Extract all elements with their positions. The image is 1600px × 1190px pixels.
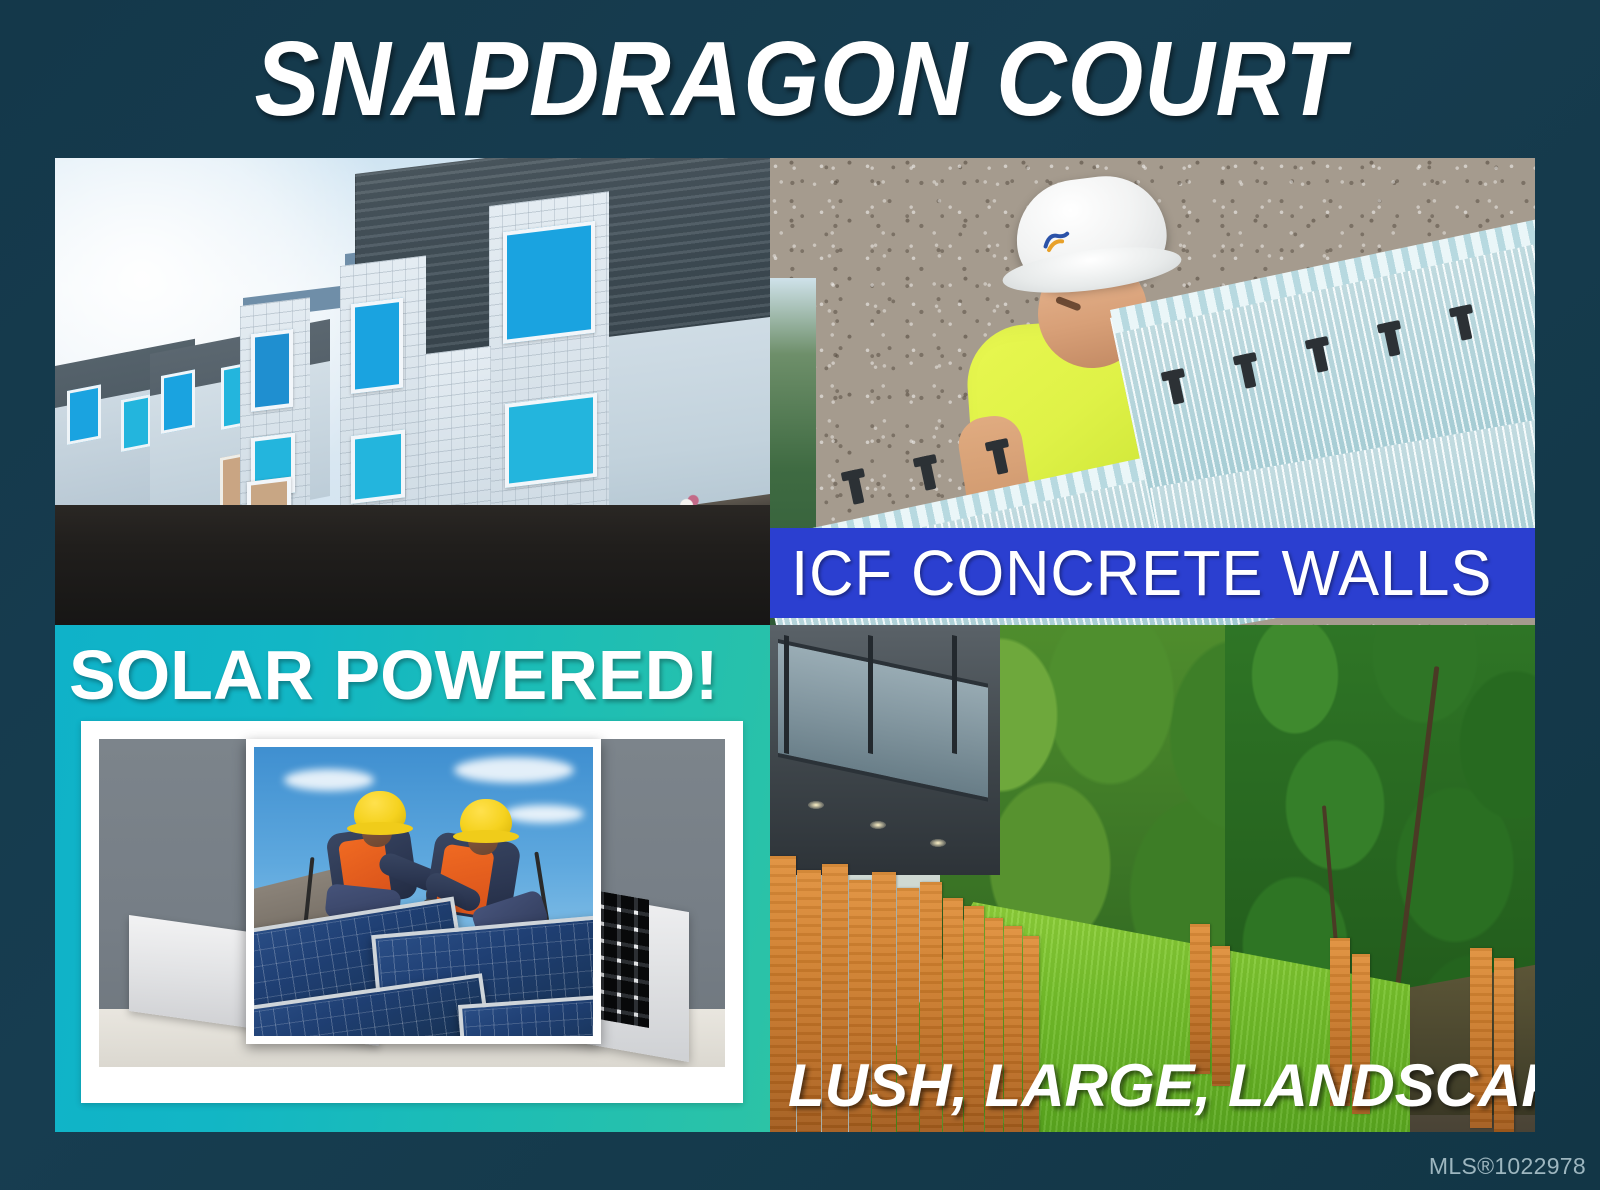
mls-watermark: MLS®1022978 xyxy=(1429,1153,1586,1180)
window xyxy=(121,394,151,452)
icf-caption-banner: ICF CONCRETE WALLS xyxy=(770,528,1535,618)
yellow-hard-hat-icon xyxy=(354,791,406,831)
window xyxy=(161,369,195,434)
solar-powered-panel: SOLAR POWERED! xyxy=(55,625,770,1132)
solar-white-frame xyxy=(81,721,743,1103)
poster-title-bar: SNAPDRAGON COURT xyxy=(0,0,1600,158)
hard-hat-logo-icon xyxy=(1041,228,1073,253)
townhouse-exterior-photo xyxy=(55,158,770,625)
yellow-hard-hat-icon xyxy=(460,799,512,839)
solar-caption-text: SOLAR POWERED! xyxy=(69,635,718,715)
cloud-shape xyxy=(454,757,574,783)
page-title: SNAPDRAGON COURT xyxy=(254,26,1345,132)
driveway-asphalt xyxy=(55,505,770,625)
window xyxy=(351,298,403,394)
solar-install-photo xyxy=(246,739,601,1044)
poster-root: SNAPDRAGON COURT xyxy=(0,0,1600,1190)
window xyxy=(505,393,597,488)
icf-caption-text: ICF CONCRETE WALLS xyxy=(770,536,1492,610)
landscape-caption-text: LUSH, LARGE, LANDSCAPE xyxy=(788,1052,1535,1119)
landscape-caption: LUSH, LARGE, LANDSCAPE xyxy=(788,1051,1528,1120)
window xyxy=(503,221,595,344)
window xyxy=(67,384,101,445)
landscape-photo: LUSH, LARGE, LANDSCAPE xyxy=(770,625,1535,1132)
window xyxy=(251,329,293,412)
railing-post xyxy=(784,635,789,754)
solar-caption: SOLAR POWERED! xyxy=(69,635,759,715)
photo-grid: ICF CONCRETE WALLS SOLAR POWERED! xyxy=(55,158,1535,1132)
railing-post xyxy=(952,635,957,754)
window xyxy=(351,429,405,504)
railing-post xyxy=(868,635,873,754)
cloud-shape xyxy=(284,769,374,791)
